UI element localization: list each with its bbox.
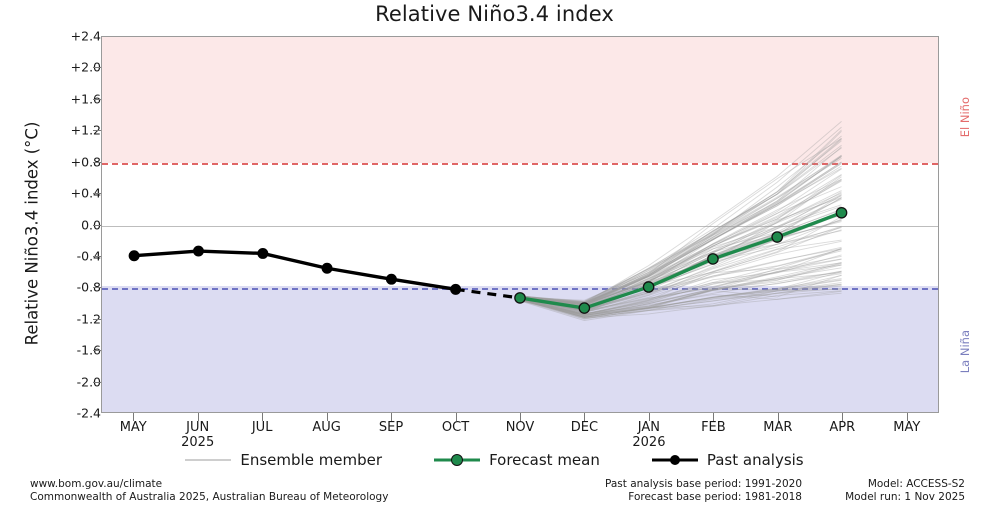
x-tick-label: MAY [867, 420, 947, 435]
chart-legend: Ensemble memberForecast meanPast analysi… [0, 451, 989, 469]
past-analysis-series [129, 246, 461, 294]
series-marker [579, 303, 589, 313]
legend-item[interactable]: Past analysis [652, 451, 804, 469]
footer-model-info: Model: ACCESS-S2 Model run: 1 Nov 2025 [745, 478, 965, 504]
series-line [134, 251, 456, 289]
y-axis: Relative Niño3.4 index (°C) +2.4+2.0+1.6… [0, 0, 101, 507]
y-tick-label: +2.4 [55, 29, 101, 44]
ensemble-member-line [520, 141, 842, 303]
series-marker [129, 251, 139, 261]
x-tick-year-label: 2025 [158, 435, 238, 450]
series-marker [836, 208, 846, 218]
footer-copyright: Commonwealth of Australia 2025, Australi… [30, 491, 388, 504]
y-tick-mark [93, 319, 101, 320]
y-axis-label: Relative Niño3.4 index (°C) [23, 54, 42, 414]
legend-label: Past analysis [707, 451, 804, 469]
y-tick-mark [93, 130, 101, 131]
past-forecast-connector [456, 289, 520, 298]
chart-series-layer [102, 37, 938, 412]
series-marker [322, 263, 332, 273]
footer-attribution: www.bom.gov.au/climate Commonwealth of A… [30, 478, 388, 504]
legend-item[interactable]: Ensemble member [185, 451, 382, 469]
legend-swatch [185, 453, 231, 467]
legend-label: Ensemble member [240, 451, 382, 469]
legend-swatch [652, 453, 698, 467]
legend-swatch [434, 453, 480, 467]
legend-label: Forecast mean [489, 451, 600, 469]
y-tick-mark [93, 256, 101, 257]
figure-footer: www.bom.gov.au/climate Commonwealth of A… [0, 478, 989, 507]
y-tick-mark [93, 99, 101, 100]
chart-figure: Relative Niño3.4 index Relative Niño3.4 … [0, 0, 989, 507]
series-marker [258, 248, 268, 258]
footer-website: www.bom.gov.au/climate [30, 478, 388, 491]
series-marker [451, 284, 461, 294]
legend-item[interactable]: Forecast mean [434, 451, 600, 469]
footer-model-run: Model run: 1 Nov 2025 [745, 491, 965, 504]
series-marker [515, 293, 525, 303]
series-marker [708, 254, 718, 264]
y-tick-mark [93, 350, 101, 351]
footer-model: Model: ACCESS-S2 [745, 478, 965, 491]
y-tick-mark [93, 193, 101, 194]
series-marker [643, 282, 653, 292]
plot-area [101, 36, 939, 413]
ensemble-member-line [520, 130, 842, 304]
series-marker [772, 232, 782, 242]
legend-marker-dot [670, 455, 680, 465]
chart-title: Relative Niño3.4 index [0, 2, 989, 26]
el-nino-side-label: El Niño [958, 97, 972, 137]
y-tick-mark [93, 382, 101, 383]
ensemble-members [520, 121, 842, 320]
legend-line [185, 460, 231, 461]
y-tick-mark [93, 287, 101, 288]
y-tick-mark [93, 67, 101, 68]
series-marker [193, 246, 203, 256]
x-tick-year-label: 2026 [609, 435, 689, 450]
ensemble-member-line [520, 206, 842, 310]
y-tick-mark [93, 162, 101, 163]
y-tick-label: -2.4 [55, 406, 101, 421]
legend-marker-dot [451, 454, 463, 466]
y-tick-mark [93, 225, 101, 226]
series-marker [386, 274, 396, 284]
la-nina-side-label: La Niña [958, 330, 972, 373]
